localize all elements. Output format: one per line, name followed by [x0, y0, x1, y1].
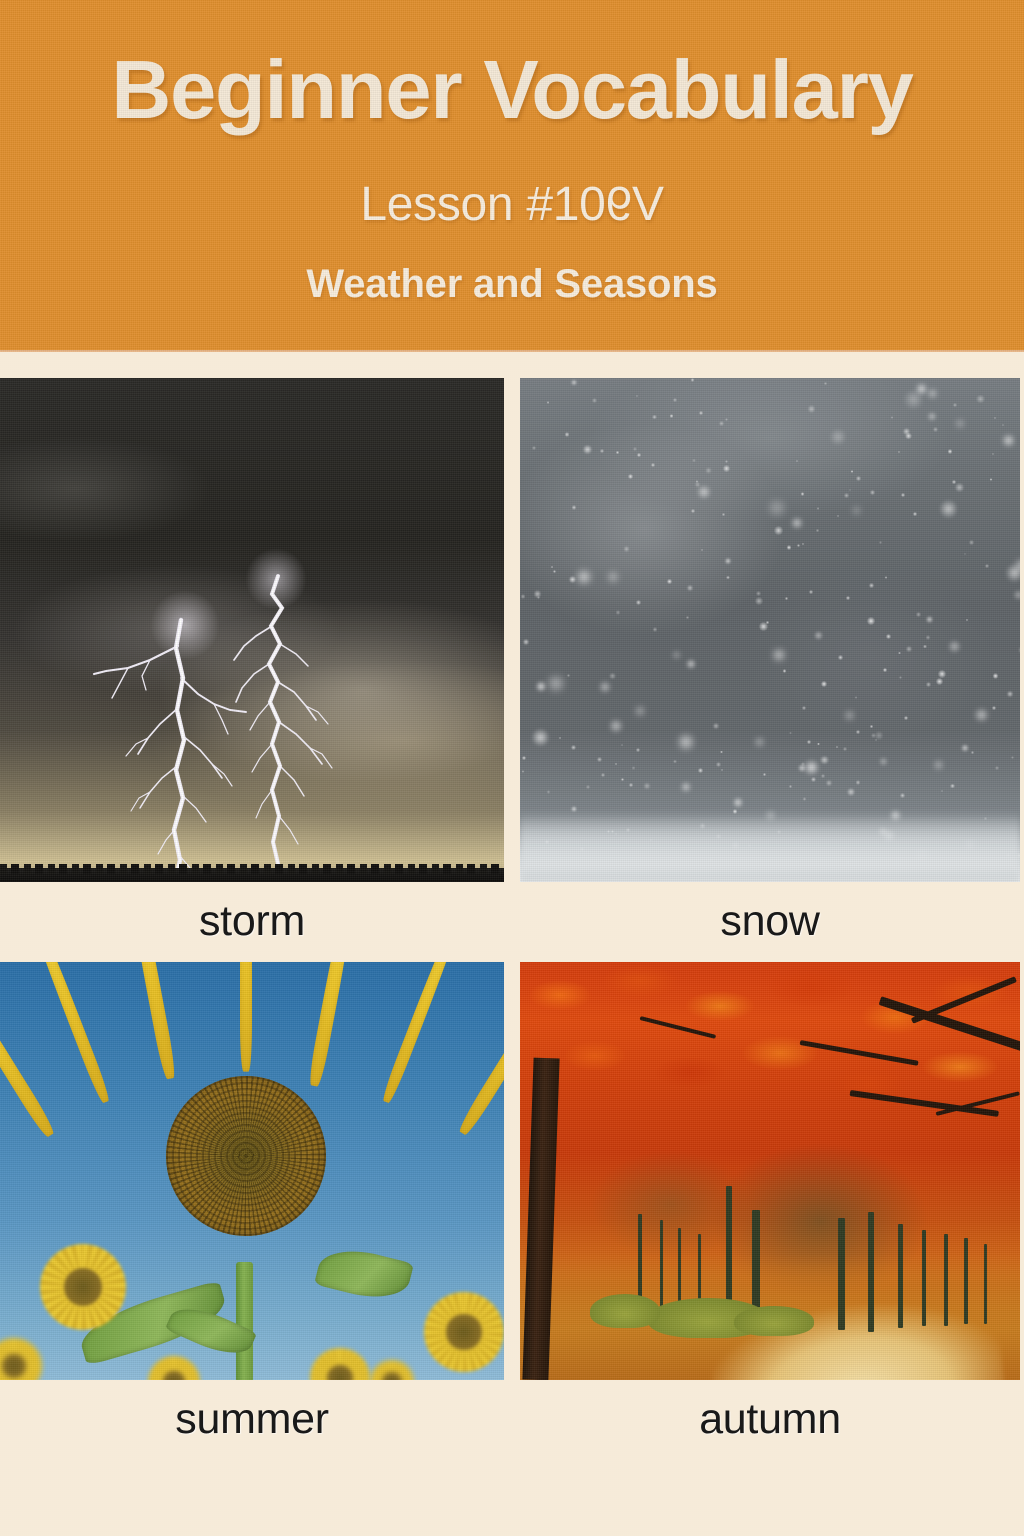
lesson-number: Lesson #109V: [0, 179, 1024, 232]
autumn-distant-trunk-13: [984, 1244, 987, 1324]
sunflower-seed-disc: [166, 1076, 326, 1236]
sunflower-background-right: [424, 1292, 504, 1372]
snow-covered-ground: [520, 810, 1020, 882]
sunflower-main-bloom: [86, 996, 406, 1316]
autumn-distant-trunk-9: [898, 1224, 903, 1328]
autumn-distant-trunk-10: [922, 1230, 926, 1326]
lesson-topic: Weather and Seasons: [0, 262, 1024, 306]
caption-snow: snow: [520, 900, 1020, 943]
caption-autumn: autumn: [520, 1398, 1020, 1441]
page-title: Beginner Vocabulary: [0, 46, 1024, 133]
caption-storm: storm: [0, 900, 504, 943]
falling-snow-photo: [520, 378, 1020, 882]
sunflower-blue-sky-photo: [0, 962, 504, 1380]
autumn-grass-clump-center: [734, 1306, 814, 1336]
lesson-number-mirrored-digit: 9: [606, 179, 632, 232]
lightning-bolt-right: [0, 378, 504, 882]
vocabulary-card-storm[interactable]: storm: [0, 378, 504, 934]
vocabulary-card-autumn[interactable]: autumn: [520, 962, 1024, 1462]
vocabulary-card-snow[interactable]: snow: [520, 378, 1024, 934]
vocabulary-card-summer[interactable]: summer: [0, 962, 504, 1462]
autumn-distant-trunk-8: [868, 1212, 874, 1332]
caption-summer: summer: [0, 1398, 504, 1441]
header-bottom-rule: [0, 350, 1024, 352]
autumn-grass-clump-far-left: [590, 1294, 660, 1328]
autumn-distant-trunk-7: [838, 1218, 845, 1330]
autumn-forest-path-photo: [520, 962, 1020, 1380]
storm-horizon-treeline: [0, 868, 504, 882]
lightning-storm-photo: [0, 378, 504, 882]
sunflower-background-left: [40, 1244, 126, 1330]
autumn-distant-trunk-11: [944, 1234, 948, 1326]
autumn-distant-trunk-12: [964, 1238, 968, 1324]
lesson-header-banner: Beginner Vocabulary Lesson #109V Weather…: [0, 0, 1024, 352]
snowflake-layer: [520, 378, 1020, 882]
lesson-number-suffix: V: [632, 178, 664, 231]
lesson-number-prefix: Lesson #10: [360, 178, 605, 231]
